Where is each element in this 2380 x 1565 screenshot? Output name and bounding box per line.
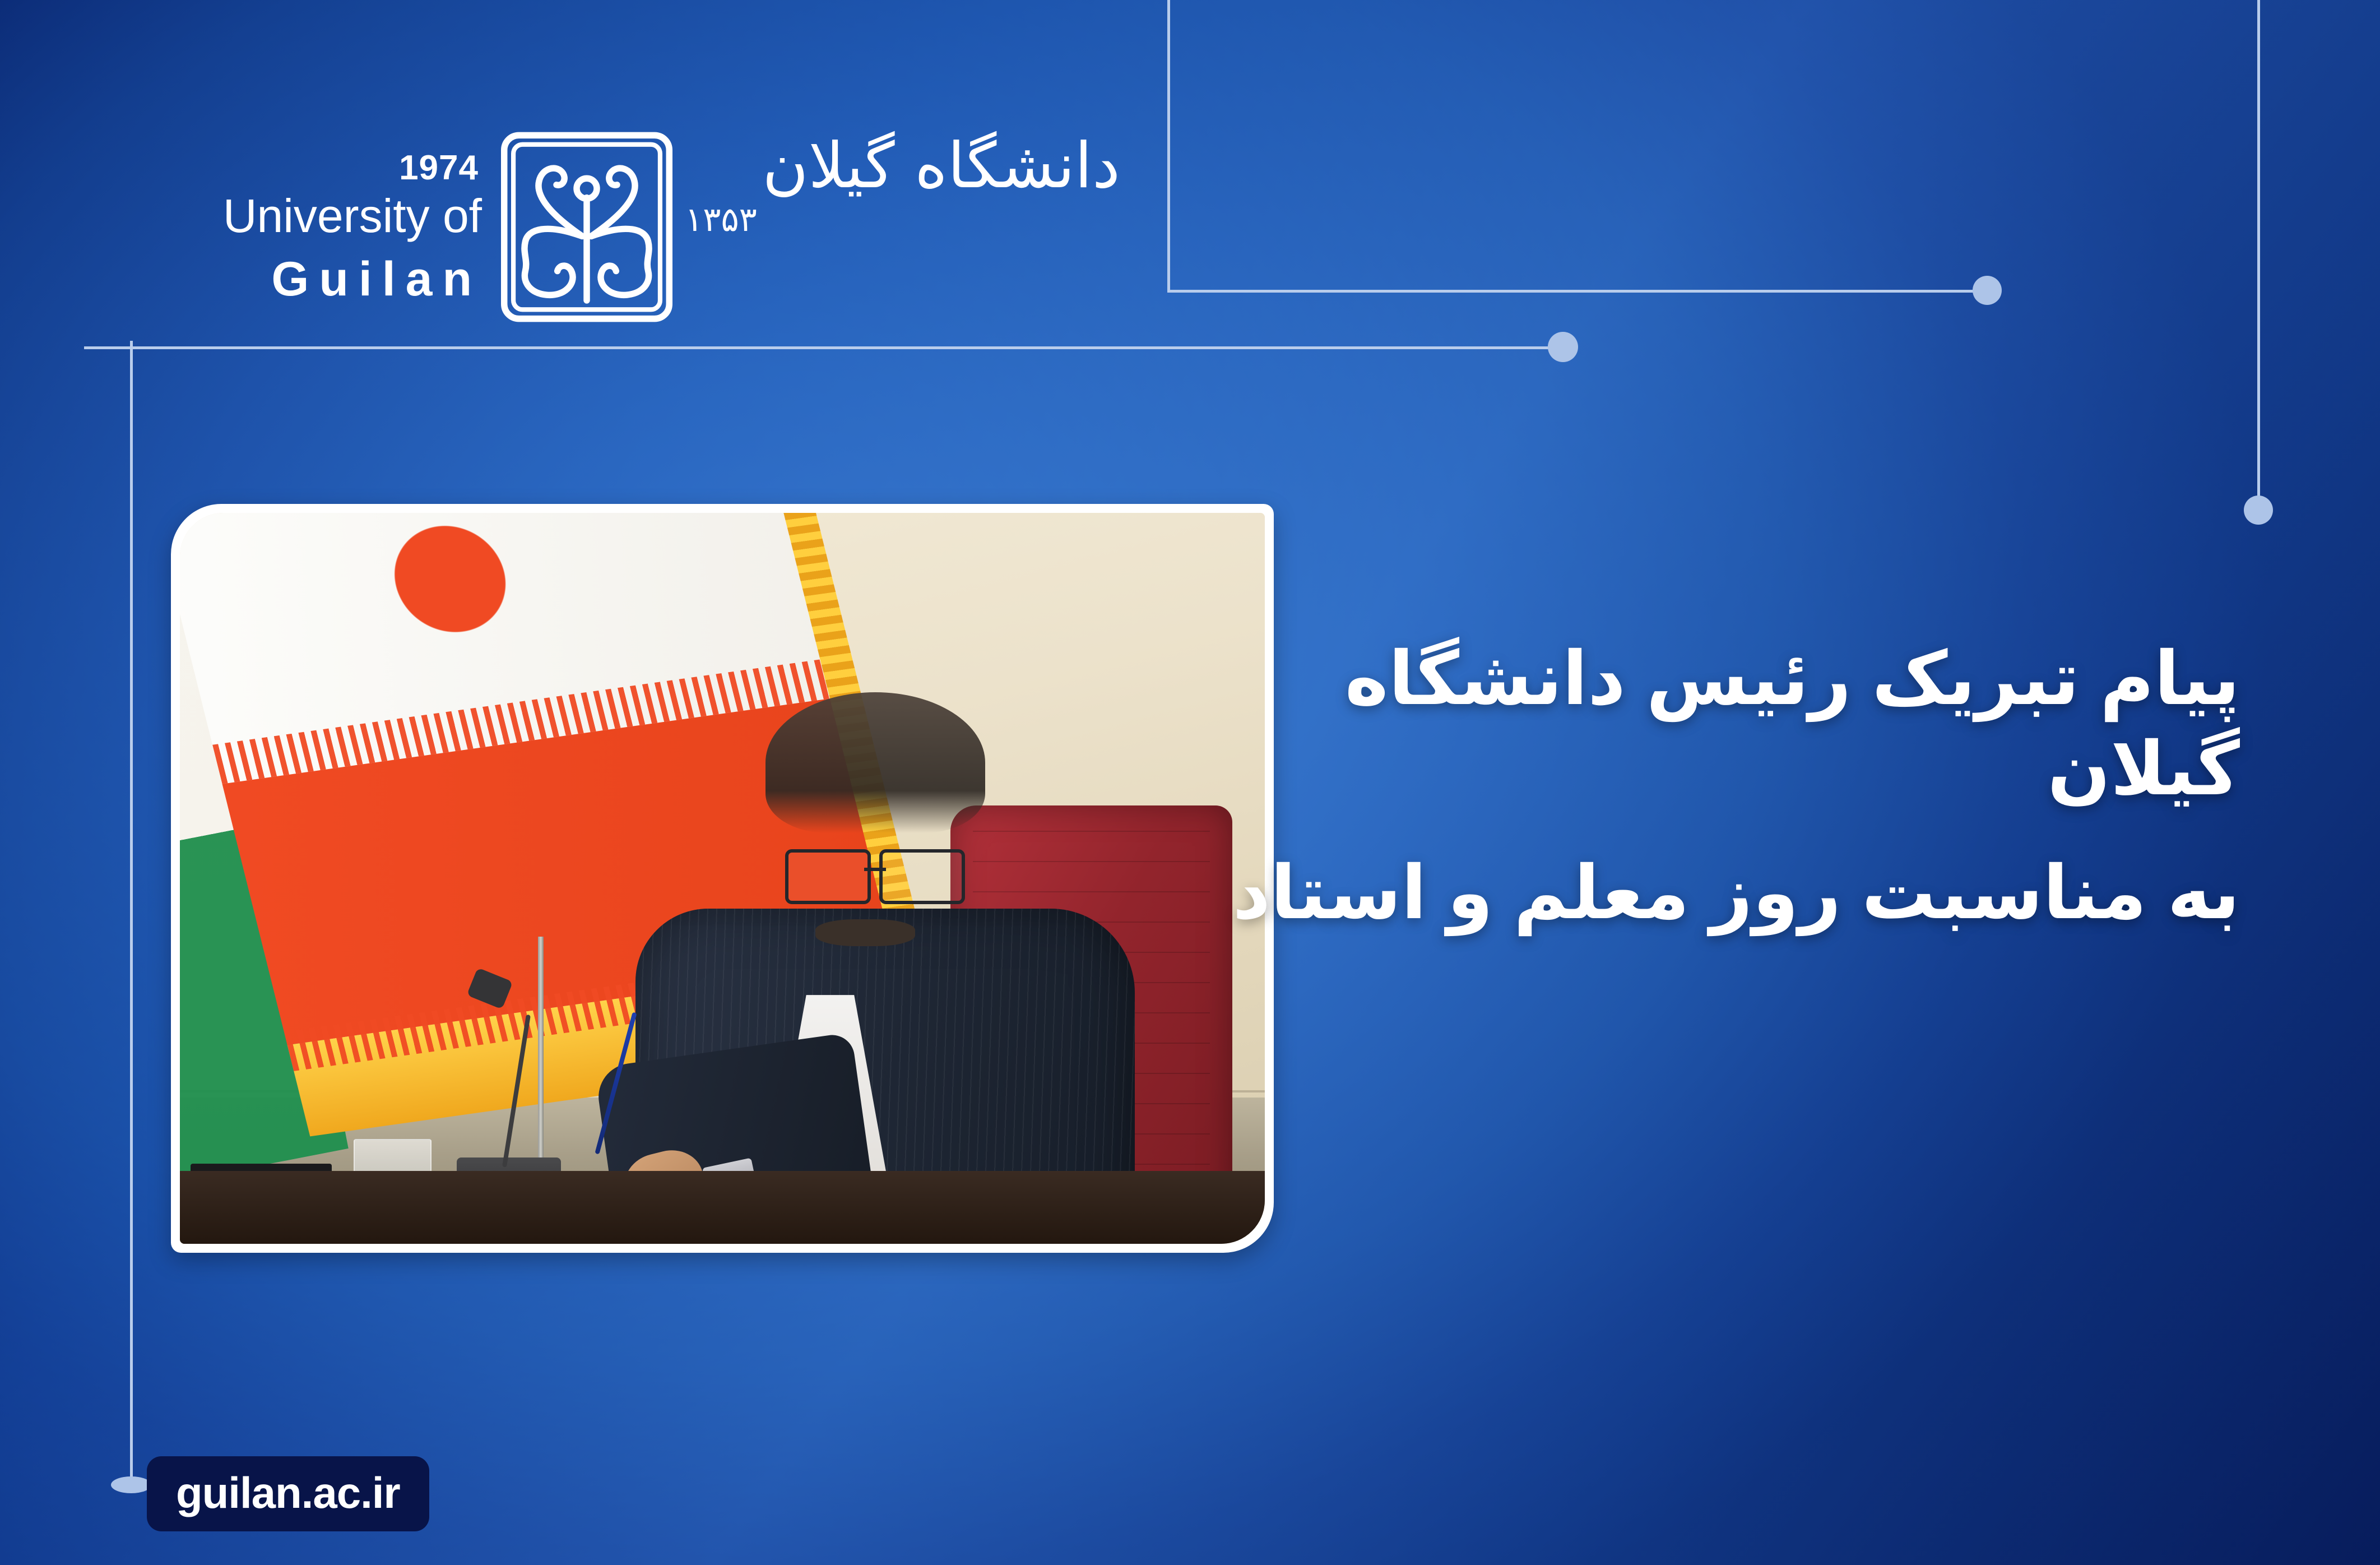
photo-desk — [180, 1171, 1265, 1244]
headline-line-1: پیام تبریک رئیس دانشگاه گیلان — [1214, 633, 2240, 814]
microphone-head — [466, 967, 513, 1010]
photo-person-hair — [766, 692, 985, 833]
logo-english-text: 1974 University of Guilan — [168, 151, 494, 303]
decor-line-right-vertical — [2257, 0, 2260, 507]
decor-dot-right — [2244, 496, 2273, 525]
photo-person — [635, 703, 1135, 1244]
decor-dot-left-vertical-end — [111, 1476, 151, 1493]
photo-person-glasses — [785, 849, 965, 898]
website-url-badge[interactable]: guilan.ac.ir — [147, 1456, 429, 1531]
logo-university-word: University of — [168, 192, 482, 239]
decor-dot-top-right — [1973, 276, 2002, 305]
glasses-bridge — [864, 868, 885, 871]
logo-guilan-word: Guilan — [168, 255, 482, 303]
decor-line-top-right-vertical — [1167, 0, 1170, 293]
poster-canvas: 1974 University of Guilan ۱۳۵۳ دانشگاه گ… — [0, 0, 2380, 1565]
glasses-right-lens — [879, 849, 965, 905]
headline-block: پیام تبریک رئیس دانشگاه گیلان به مناسبت … — [1214, 633, 2240, 938]
decor-line-left-horizontal — [84, 346, 1564, 349]
glasses-left-lens — [785, 849, 871, 905]
guilan-butterfly-emblem-icon — [494, 126, 679, 328]
decor-line-left-vertical — [130, 341, 133, 1491]
logo-university-name-fa: دانشگاه گیلان — [767, 132, 1120, 317]
university-logo: 1974 University of Guilan ۱۳۵۳ دانشگاه گ… — [168, 126, 1120, 328]
logo-persian-block: ۱۳۵۳ دانشگاه گیلان — [685, 137, 1120, 317]
microphone-neck — [502, 1015, 531, 1168]
headline-line-2: به مناسبت روز معلم و استاد — [1214, 848, 2240, 938]
logo-founding-year-fa: ۱۳۵۳ — [685, 200, 757, 239]
decor-line-top-right-horizontal — [1167, 290, 1985, 293]
logo-founding-year-en: 1974 — [168, 151, 482, 186]
president-photo-frame — [171, 504, 1274, 1253]
decor-dot-left-horizontal-end — [1548, 332, 1578, 362]
president-photo — [180, 513, 1265, 1244]
photo-person-moustache — [815, 919, 915, 946]
